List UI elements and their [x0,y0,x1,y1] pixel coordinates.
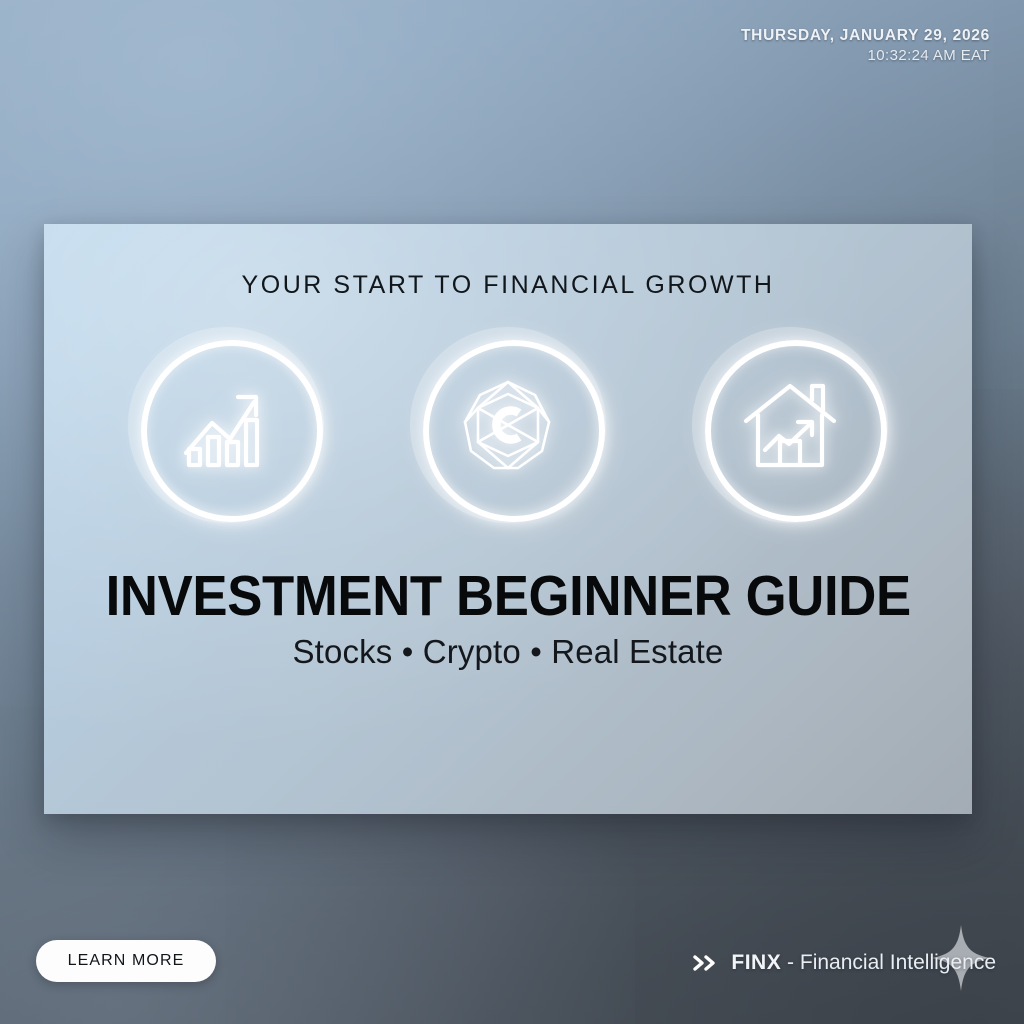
house-growth-icon [738,373,842,477]
growth-chart-icon [174,373,278,477]
card-subtitle: Stocks • Crypto • Real Estate [293,633,724,671]
brand-tagline: - Financial Intelligence [781,951,996,974]
crypto-crystal-icon [456,373,560,477]
timestamp-time: 10:32:24 AM EAT [741,46,990,65]
timestamp-date: THURSDAY, JANUARY 29, 2026 [741,26,990,46]
brand-mark: FINX [731,951,781,974]
page-title: INVESTMENT BEGINNER GUIDE [105,567,910,626]
icon-badge-row [128,327,888,523]
timestamp: THURSDAY, JANUARY 29, 2026 10:32:24 AM E… [741,26,990,65]
poster-stage: THURSDAY, JANUARY 29, 2026 10:32:24 AM E… [0,0,1024,1024]
brand-name: FINX - Financial Intelligence [731,951,996,975]
brand-footer: FINX - Financial Intelligence [692,943,996,983]
double-chevron-right-icon [692,953,718,973]
card-eyebrow: YOUR START TO FINANCIAL GROWTH [241,271,774,300]
badge-stocks[interactable] [128,327,324,523]
badge-real-estate[interactable] [692,327,888,523]
badge-crypto[interactable] [410,327,606,523]
learn-more-button[interactable]: LEARN MORE [36,940,216,982]
card-content: YOUR START TO FINANCIAL GROWTH [44,224,972,814]
main-card: YOUR START TO FINANCIAL GROWTH [44,224,972,814]
